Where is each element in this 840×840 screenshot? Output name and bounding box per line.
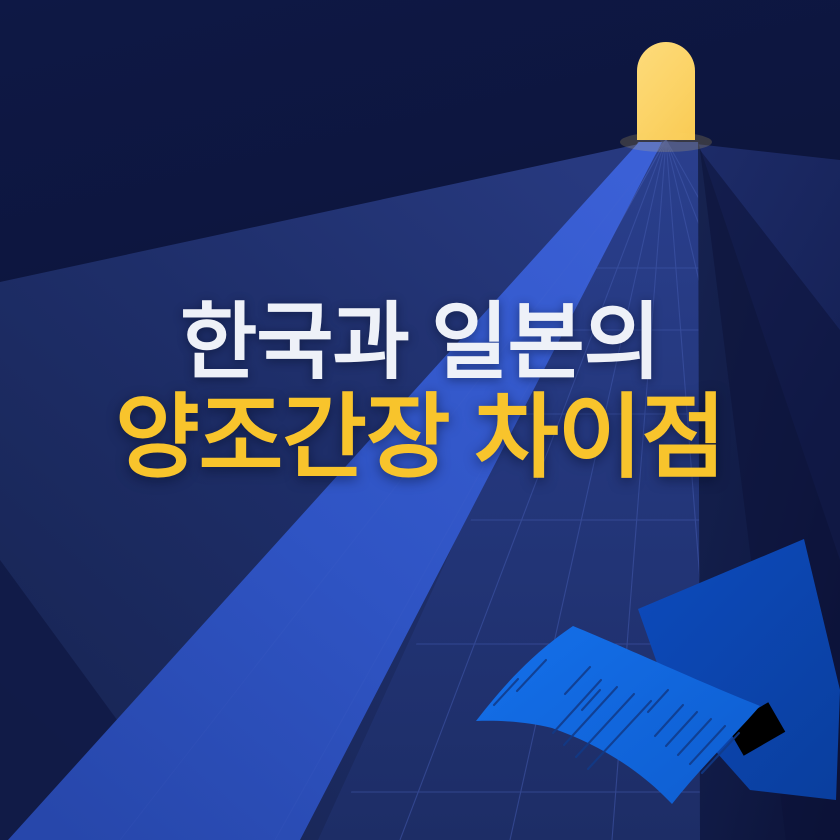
thumbnail-canvas: 한국과 일본의 양조간장 차이점 — [0, 0, 840, 840]
background-scene — [0, 0, 840, 840]
spotlight-lamp — [637, 42, 695, 140]
lamp-glow — [620, 132, 712, 152]
